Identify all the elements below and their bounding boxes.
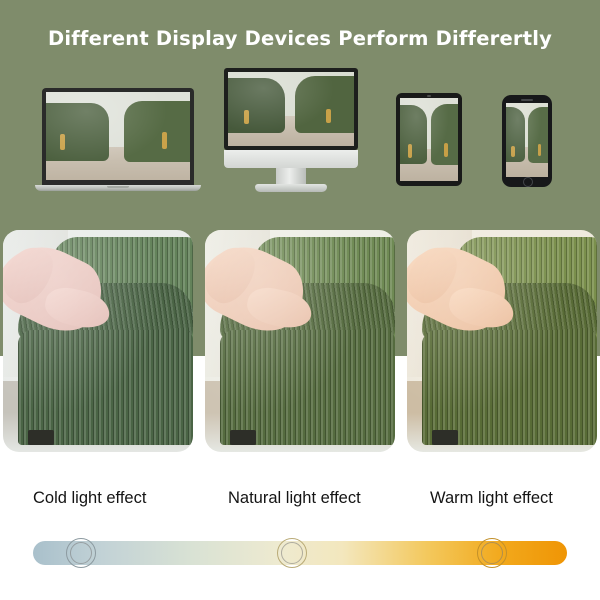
monitor-stand-neck [276,168,306,184]
tablet-mockup [396,93,462,186]
device-sofa-photo [506,103,548,177]
caption-cold: Cold light effect [33,489,146,508]
page-title: Different Display Devices Perform Differ… [0,27,600,50]
monitor-chin [224,150,358,168]
comparison-panel-natural [205,230,395,452]
device-sofa-photo [400,98,458,181]
monitor-stand-foot [255,184,327,192]
caption-warm: Warm light effect [430,489,553,508]
sofa-left [46,103,109,161]
tablet-bezel [396,93,462,186]
sofa-body [422,330,597,445]
sofa-foot [230,430,257,446]
phone-screen-content [506,103,548,177]
phone-speaker-icon [521,99,533,101]
sofa-right [295,76,354,132]
sofa-left [400,105,427,165]
sofa-photo-cold [3,230,193,452]
laptop-trackpad-notch [107,186,129,188]
tablet-screen-content [400,98,458,181]
cold-handle[interactable] [66,538,96,568]
smartphone-mockup [502,95,552,187]
sofa-body [220,330,395,445]
monitor-mockup [224,68,358,194]
comparison-panel-warm [407,230,597,452]
laptop-screen-content [46,92,190,180]
sofa-foot [432,430,459,446]
sofa-photo-warm [407,230,597,452]
sofa-body [18,330,193,445]
sofa-photo-natural [205,230,395,452]
laptop-screen-bezel [42,88,194,185]
natural-handle[interactable] [277,538,307,568]
sofa-left [506,107,525,162]
laptop-mockup [35,88,201,194]
sofa-foot [28,430,55,446]
monitor-screen-bezel [224,68,358,150]
comparison-panel-cold [3,230,193,452]
tablet-camera-icon [427,95,431,97]
infographic-canvas: Different Display Devices Perform Differ… [0,0,600,600]
device-sofa-photo [228,72,354,146]
device-sofa-photo [46,92,190,180]
phone-home-button-icon [523,177,533,187]
monitor-screen-content [228,72,354,146]
sofa-left [228,78,285,133]
sofa-right [124,101,190,163]
caption-natural: Natural light effect [228,489,361,508]
phone-bezel [502,95,552,187]
